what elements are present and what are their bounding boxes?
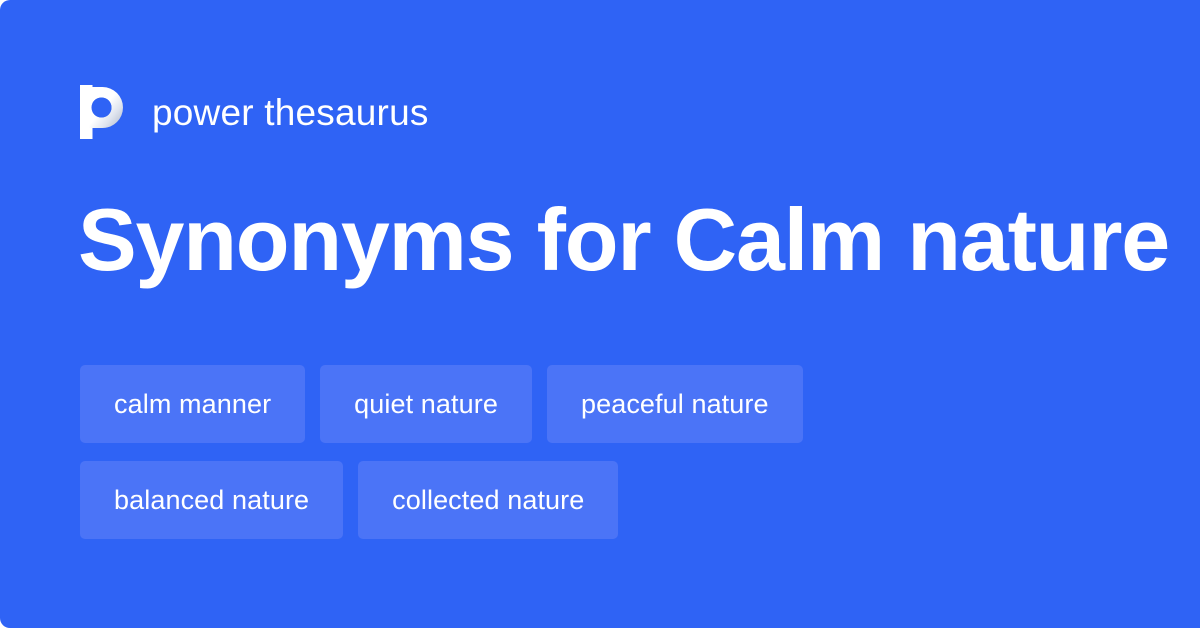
synonym-chip[interactable]: collected nature [358,461,618,539]
brand-header[interactable]: power thesaurus [80,82,429,142]
synonym-chip[interactable]: balanced nature [80,461,343,539]
synonym-chip[interactable]: calm manner [80,365,305,443]
power-thesaurus-logo-icon [80,85,126,139]
synonym-chip[interactable]: quiet nature [320,365,532,443]
brand-name: power thesaurus [152,94,429,131]
synonym-chip[interactable]: peaceful nature [547,365,803,443]
page-title: Synonyms for Calm nature [78,196,1138,284]
synonym-row: balanced nature collected nature [80,461,1140,539]
synonym-row: calm manner quiet nature peaceful nature [80,365,1140,443]
synonym-chip-area: calm manner quiet nature peaceful nature… [80,365,1140,539]
og-card: power thesaurus Synonyms for Calm nature… [0,0,1200,628]
